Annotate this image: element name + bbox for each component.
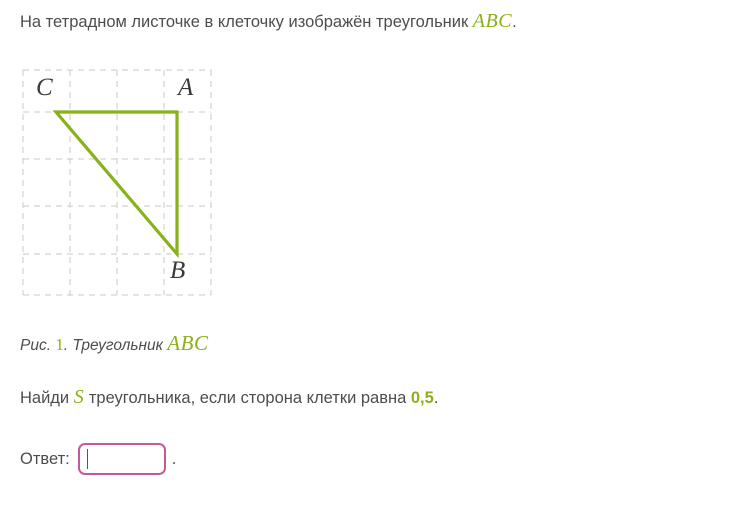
answer-input[interactable] <box>78 443 166 475</box>
question-text-before: Найди <box>20 389 74 407</box>
caption-middle: . Треугольник <box>64 337 167 354</box>
text-caret <box>87 449 88 469</box>
question-area-symbol: S <box>74 386 85 408</box>
question-prompt: Найди S треугольника, если сторона клетк… <box>20 386 438 409</box>
answer-label: Ответ: <box>20 450 70 469</box>
answer-period: . <box>172 450 177 469</box>
figure-caption: Рис. 1. Треугольник ABC <box>20 331 208 356</box>
triangle-abc-shape <box>56 112 177 254</box>
triangle-figure: C A B <box>0 55 260 310</box>
caption-prefix: Рис. <box>20 337 55 354</box>
intro-prompt: На тетрадном листочке в клеточку изображ… <box>20 10 517 33</box>
question-cell-size-value: 0,5 <box>411 389 434 407</box>
vertex-label-b: B <box>170 258 185 283</box>
caption-number: 1 <box>55 335 64 354</box>
answer-row: Ответ: . <box>20 443 176 475</box>
intro-triangle-name: ABC <box>473 10 512 32</box>
question-text-after: . <box>434 389 439 407</box>
vertex-label-c: C <box>36 75 53 100</box>
caption-triangle-name: ABC <box>167 331 208 355</box>
intro-text-after: . <box>512 13 517 31</box>
intro-text-before: На тетрадном листочке в клеточку изображ… <box>20 13 473 31</box>
question-text-middle: треугольника, если сторона клетки равна <box>84 389 411 407</box>
vertex-label-a: A <box>178 75 193 100</box>
